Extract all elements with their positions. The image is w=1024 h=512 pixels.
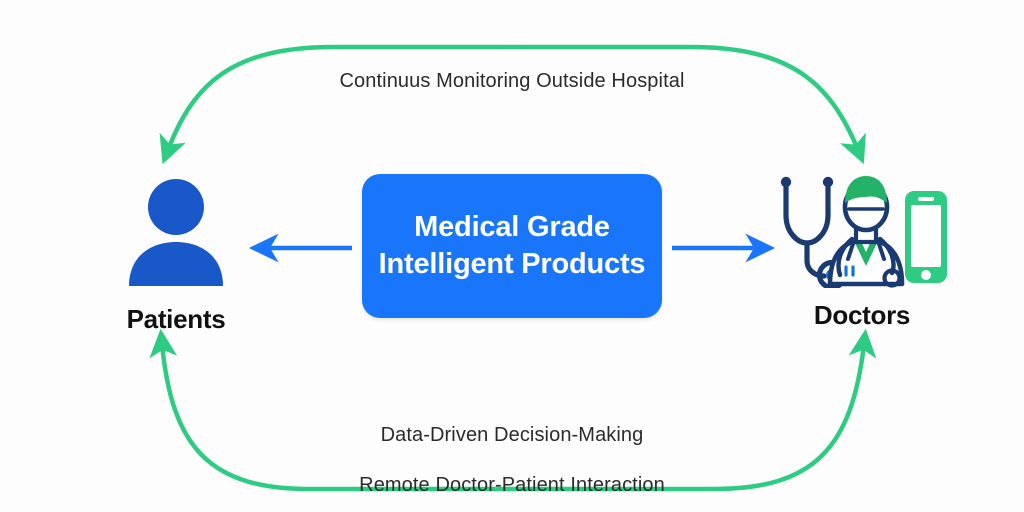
center-node-line-1: Medical Grade: [414, 209, 610, 246]
edge-label-continuous-monitoring: Continuus Monitoring Outside Hospital: [0, 70, 1024, 93]
curve-bottom-left-to-patients: [162, 344, 512, 489]
curve-top-left-to-patients: [168, 47, 512, 150]
patients-label: Patients: [127, 304, 226, 335]
person-icon: [117, 174, 235, 292]
doctors-art: [774, 168, 950, 288]
edge-label-remote-doctor-patient-interaction: Remote Doctor-Patient Interaction: [0, 474, 1024, 497]
patients-art: [117, 172, 235, 292]
node-doctors[interactable]: Doctors: [762, 168, 962, 331]
center-node-medical-grade-intelligent-products[interactable]: Medical Grade Intelligent Products: [362, 174, 662, 318]
curve-bottom-right-to-doctors: [512, 344, 864, 489]
curve-top-right-to-doctors: [512, 47, 858, 150]
node-patients[interactable]: Patients: [96, 172, 256, 335]
smartphone-icon: [905, 191, 947, 283]
doctor-stethoscope-phone-icon: [774, 163, 950, 288]
edge-label-data-driven-decision-making: Data-Driven Decision-Making: [0, 424, 1024, 447]
center-node-line-2: Intelligent Products: [379, 246, 646, 283]
doctor-figure-icon: [830, 176, 902, 286]
doctors-label: Doctors: [814, 300, 910, 331]
diagram-canvas: Medical Grade Intelligent Products Patie…: [0, 0, 1024, 512]
